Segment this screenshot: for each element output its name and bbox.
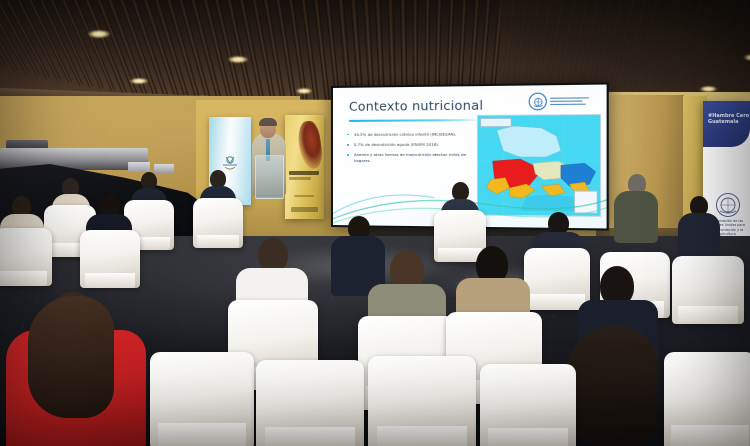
chair <box>672 256 744 324</box>
chair <box>664 352 750 446</box>
fao-logo-wordmark <box>550 97 589 106</box>
conference-photo: Contexto nutricional 40.5% de desnutrici… <box>0 0 750 446</box>
ceiling-light <box>228 56 248 63</box>
ceiling-light <box>88 30 110 38</box>
slide-bullet: 40.5% de desnutrición crónica infantil (… <box>347 131 474 137</box>
banner-top-panel: #Hambre Cero Guatemala <box>703 101 750 147</box>
flag-emblem-icon <box>220 151 240 173</box>
lectern <box>255 155 284 199</box>
gold-banner-text-block-3 <box>294 195 314 197</box>
ceiling-light <box>296 88 312 94</box>
slide-title-rule <box>349 119 476 122</box>
chair <box>256 360 364 446</box>
laptop-2 <box>154 164 174 173</box>
chair <box>80 230 140 288</box>
hair <box>28 296 114 418</box>
slide-bullet: 0.7% de desnutrición aguda (ENSMI 2016). <box>347 142 474 148</box>
ceiling-light <box>130 78 148 84</box>
body <box>614 191 658 243</box>
chair <box>193 198 243 248</box>
slide-bullet: Anemia y otras formas de malnutrición af… <box>347 152 474 163</box>
slide-bullet-list: 40.5% de desnutrición crónica infantil (… <box>347 131 474 168</box>
fao-wheat-emblem-icon <box>529 93 547 111</box>
gold-banner-logo-row <box>291 207 318 212</box>
gold-banner-text-block-1 <box>289 171 319 175</box>
banner-hashtag: #Hambre Cero Guatemala <box>708 113 750 125</box>
gold-banner-graphic <box>296 120 324 171</box>
speaker-hair <box>259 118 277 126</box>
laptop-1 <box>128 162 150 172</box>
chair <box>524 248 590 310</box>
body <box>678 213 720 261</box>
chair <box>480 364 576 446</box>
hair <box>566 326 658 446</box>
gold-banner-text-block-2 <box>289 177 311 180</box>
map-caption-box <box>480 117 512 126</box>
chair <box>150 352 254 446</box>
slide-title: Contexto nutricional <box>349 97 483 113</box>
head <box>258 238 288 272</box>
un-emblem-icon <box>716 193 740 217</box>
chair <box>368 356 476 446</box>
gold-rollup-banner <box>285 115 324 219</box>
slide-fao-logo <box>529 92 598 110</box>
chair <box>0 228 52 286</box>
